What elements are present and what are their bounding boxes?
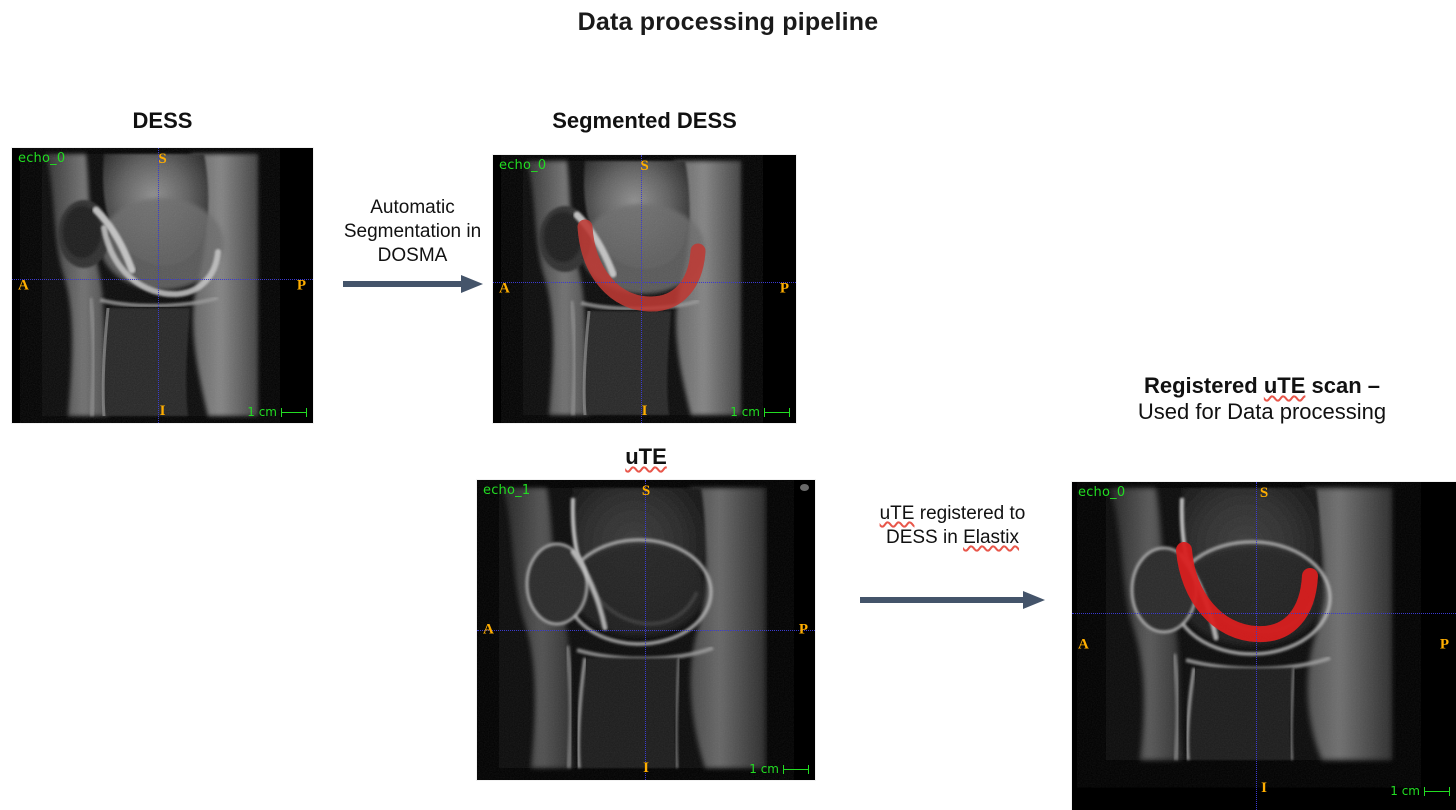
panel-heading-ute-text: uTE — [625, 444, 667, 469]
scale-bar-label: 1 cm — [749, 762, 779, 776]
orientation-marker-posterior: P — [799, 623, 808, 638]
scale-bar-label: 1 cm — [1390, 784, 1420, 798]
scale-bar: 1 cm — [730, 405, 790, 419]
crosshair-horizontal — [493, 282, 796, 283]
orientation-marker-superior: S — [640, 159, 648, 174]
caption-word-elastix: Elastix — [963, 527, 1019, 548]
registration-arrow-group: uTE registered to DESS in Elastix — [845, 502, 1060, 610]
scale-bar-label: 1 cm — [730, 405, 760, 419]
echo-label: echo_1 — [483, 483, 530, 498]
caption-line: uTE registered to — [845, 502, 1060, 526]
panel-heading-segmented-dess: Segmented DESS — [493, 108, 796, 134]
orientation-marker-anterior: A — [1078, 638, 1089, 653]
orientation-marker-posterior: P — [1440, 638, 1449, 653]
arrow-right-icon — [343, 274, 483, 294]
panel-heading-registered-ute-regular: Used for Data processing — [1112, 399, 1412, 425]
caption-line: Automatic — [330, 196, 495, 220]
caption-rest: DESS in — [886, 527, 963, 548]
orientation-marker-inferior: I — [1261, 781, 1267, 796]
mri-image-dess — [12, 148, 313, 423]
mri-panel-segmented-dess[interactable]: echo_0 S I A P 1 cm — [493, 155, 796, 423]
orientation-marker-inferior: I — [160, 404, 166, 419]
crosshair-horizontal — [12, 279, 313, 280]
orientation-marker-inferior: I — [643, 761, 649, 776]
caption-line: Segmentation in — [330, 220, 495, 244]
mri-image-registered-ute — [1072, 482, 1456, 810]
crosshair-vertical — [1256, 482, 1257, 810]
scale-bar-glyph-icon — [281, 408, 307, 417]
scale-bar-glyph-icon — [764, 408, 790, 417]
orientation-marker-superior: S — [1260, 486, 1268, 501]
scale-bar-glyph-icon — [1424, 787, 1450, 796]
crosshair-vertical — [158, 148, 159, 423]
orientation-marker-superior: S — [642, 484, 650, 499]
mri-panel-registered-ute[interactable]: echo_0 S I A P 1 cm — [1072, 482, 1456, 810]
page-title: Data processing pipeline — [0, 8, 1456, 37]
orientation-marker-inferior: I — [642, 404, 648, 419]
segmentation-arrow-group: Automatic Segmentation in DOSMA — [330, 196, 495, 294]
registration-arrow-caption: uTE registered to DESS in Elastix — [845, 502, 1060, 550]
segmentation-arrow-caption: Automatic Segmentation in DOSMA — [330, 196, 495, 268]
orientation-marker-posterior: P — [780, 282, 789, 297]
caption-word-ute: uTE — [880, 503, 915, 524]
mri-panel-dess[interactable]: echo_0 S I A P 1 cm — [12, 148, 313, 423]
orientation-marker-superior: S — [158, 152, 166, 167]
scale-bar-glyph-icon — [783, 765, 809, 774]
crosshair-horizontal — [477, 630, 815, 631]
scale-bar: 1 cm — [749, 762, 809, 776]
orientation-marker-anterior: A — [483, 623, 494, 638]
arrow-right-icon — [860, 590, 1045, 610]
panel-heading-registered-ute: Registered uTE scan – Used for Data proc… — [1112, 373, 1412, 425]
panel-heading-dess: DESS — [12, 108, 313, 134]
panel-heading-ute: uTE — [477, 444, 815, 470]
orientation-marker-anterior: A — [18, 278, 29, 293]
caption-line: DESS in Elastix — [845, 526, 1060, 550]
mri-image-segmented-dess — [493, 155, 796, 423]
heading-word-registered: Registered — [1144, 373, 1264, 398]
caption-line: DOSMA — [330, 244, 495, 268]
heading-word-ute: uTE — [1264, 373, 1306, 398]
crosshair-vertical — [641, 155, 642, 423]
scale-bar-label: 1 cm — [247, 405, 277, 419]
corner-artifact-icon — [800, 484, 809, 491]
echo-label: echo_0 — [1078, 485, 1125, 500]
echo-label: echo_0 — [499, 158, 546, 173]
scale-bar: 1 cm — [1390, 784, 1450, 798]
scale-bar: 1 cm — [247, 405, 307, 419]
panel-heading-registered-ute-bold: Registered uTE scan – — [1112, 373, 1412, 399]
crosshair-horizontal — [1072, 613, 1456, 614]
orientation-marker-anterior: A — [499, 282, 510, 297]
echo-label: echo_0 — [18, 151, 65, 166]
orientation-marker-posterior: P — [297, 278, 306, 293]
heading-word-scan: scan – — [1305, 373, 1380, 398]
crosshair-vertical — [645, 480, 646, 780]
caption-rest: registered to — [914, 503, 1025, 524]
mri-panel-ute[interactable]: echo_1 S I A P 1 cm — [477, 480, 815, 780]
